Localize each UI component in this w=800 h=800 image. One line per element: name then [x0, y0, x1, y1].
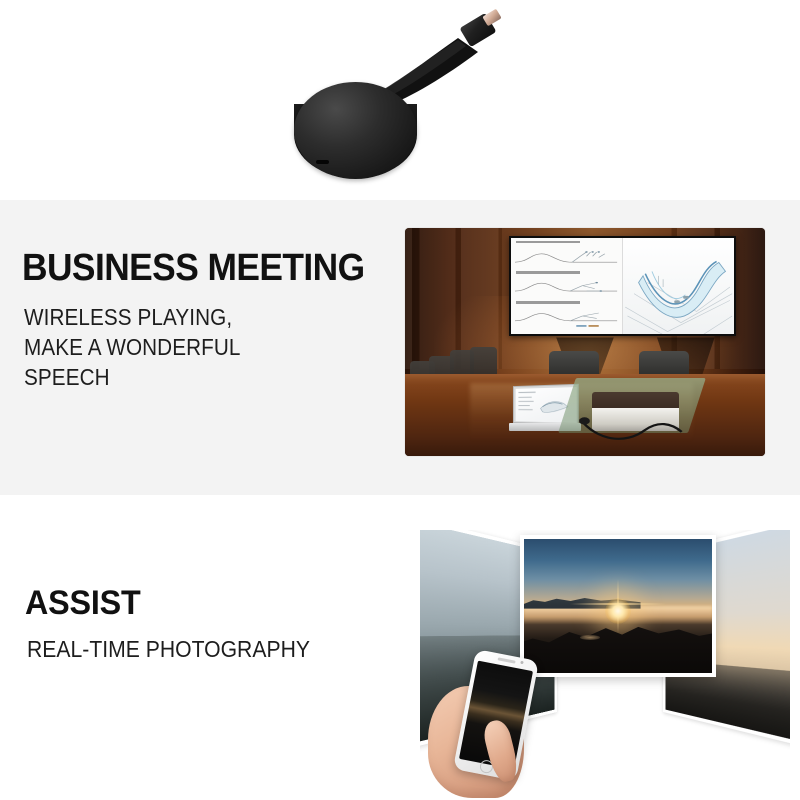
assist-subtitle: REAL-TIME PHOTOGRAPHY	[27, 635, 347, 663]
wall-display-content	[511, 238, 734, 334]
hand-holding-phone	[428, 648, 578, 798]
chart-panel	[513, 241, 619, 271]
dongle-body-top	[294, 82, 417, 179]
assist-heading: ASSIST	[25, 585, 358, 621]
chart-panel	[513, 301, 619, 331]
photography-collage-photo	[420, 530, 790, 800]
usb-port-icon	[316, 160, 329, 164]
phone-speaker-icon	[498, 657, 516, 663]
wireless-display-dongle	[280, 4, 520, 194]
display-chart-panels	[511, 238, 622, 334]
assist-section: ASSIST REAL-TIME PHOTOGRAPHY	[0, 495, 800, 800]
subtitle-line-3: SPEECH	[24, 362, 355, 392]
chart-curve-icon	[515, 279, 617, 297]
phone-camera-icon	[520, 661, 524, 665]
business-meeting-heading: BUSINESS MEETING	[22, 248, 366, 288]
wall-display-screen	[509, 236, 736, 336]
subtitle-line-1: WIRELESS PLAYING,	[24, 302, 355, 332]
product-listing-page: BUSINESS MEETING WIRELESS PLAYING, MAKE …	[0, 0, 800, 800]
business-meeting-subtitle: WIRELESS PLAYING, MAKE A WONDERFUL SPEEC…	[24, 302, 355, 392]
chart-panel	[513, 271, 619, 301]
subtitle-line-2: MAKE A WONDERFUL	[24, 332, 355, 362]
display-3d-rendering	[623, 238, 734, 334]
conference-room-photo	[405, 228, 765, 456]
hdmi-connector	[463, 11, 503, 43]
assist-copy: ASSIST REAL-TIME PHOTOGRAPHY	[25, 585, 375, 663]
business-meeting-section: BUSINESS MEETING WIRELESS PLAYING, MAKE …	[0, 200, 800, 495]
hero-product-section	[0, 0, 800, 200]
chart-curve-icon	[515, 310, 617, 328]
chart-label	[516, 301, 580, 304]
chart-label	[516, 271, 580, 274]
chart-curve-icon	[515, 249, 617, 267]
sun-icon	[605, 598, 631, 624]
chart-label	[516, 241, 580, 244]
isometric-model-icon	[623, 238, 734, 334]
business-meeting-copy: BUSINESS MEETING WIRELESS PLAYING, MAKE …	[22, 248, 392, 392]
projector-cable-icon	[578, 410, 686, 446]
